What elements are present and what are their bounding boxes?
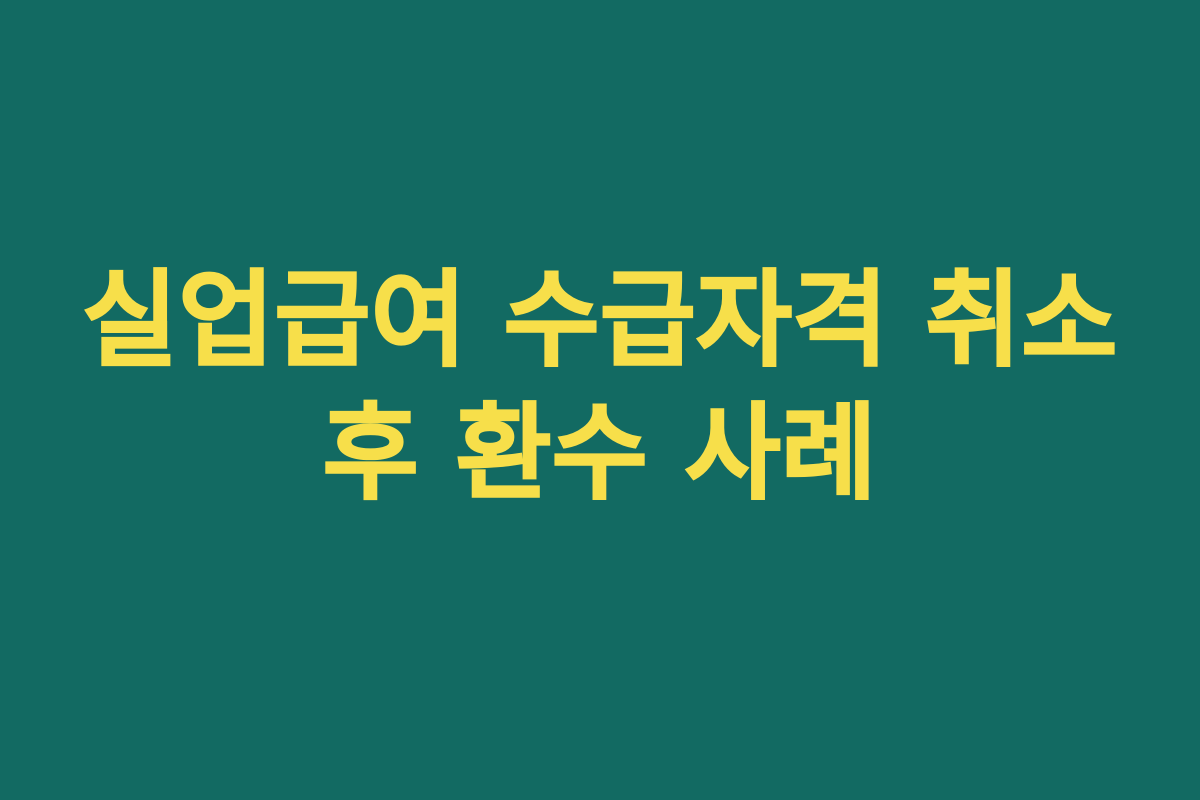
thumbnail-card: 실업급여 수급자격 취소 후 환수 사례 (0, 0, 1200, 800)
page-title: 실업급여 수급자격 취소 후 환수 사례 (0, 254, 1200, 520)
title-line-2: 후 환수 사례 (0, 387, 1200, 520)
title-line-1: 실업급여 수급자격 취소 (0, 254, 1200, 387)
